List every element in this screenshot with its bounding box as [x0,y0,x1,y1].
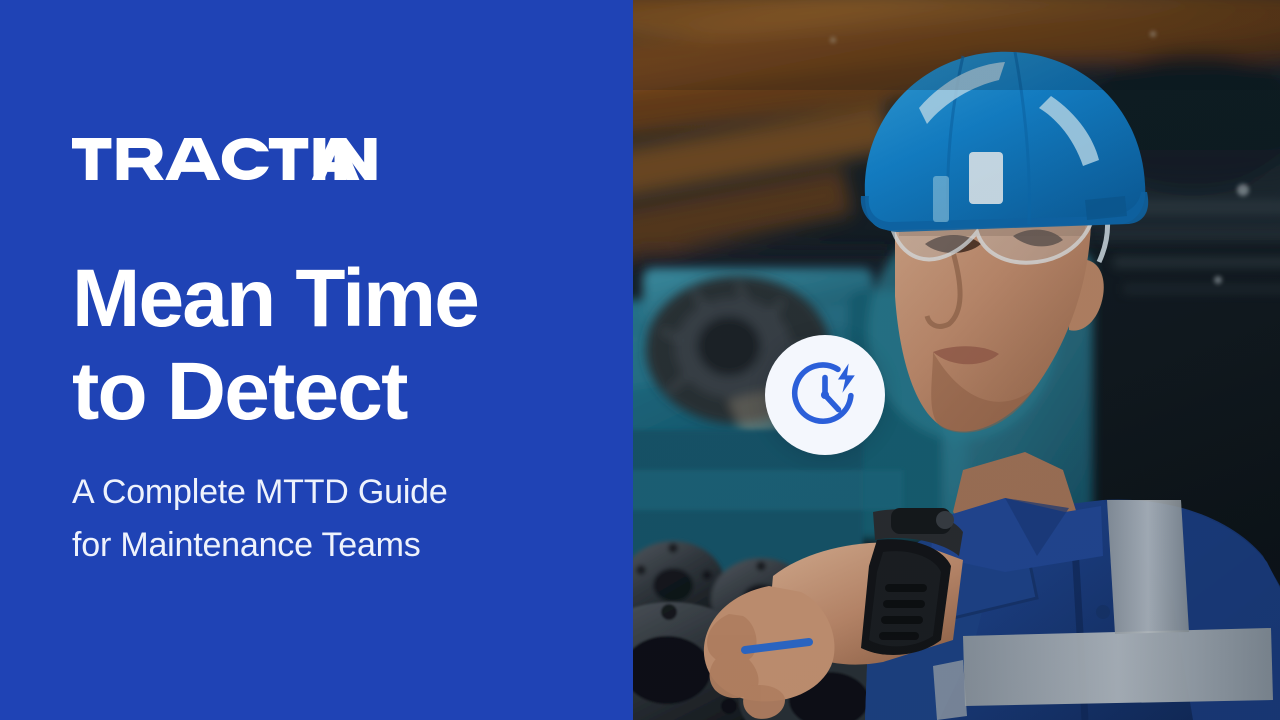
left-blue-panel: Mean Time to Detect A Complete MTTD Guid… [0,0,633,720]
hero-photo [633,0,1280,720]
clock-bolt-icon [789,359,861,431]
clock-bolt-badge [765,335,885,455]
panel-content: Mean Time to Detect A Complete MTTD Guid… [72,0,592,720]
tractian-logo[interactable] [72,138,377,180]
page-title: Mean Time to Detect [72,253,612,438]
cover-layout: Mean Time to Detect A Complete MTTD Guid… [0,0,1280,720]
page-subtitle: A Complete MTTD Guide for Maintenance Te… [72,466,592,572]
